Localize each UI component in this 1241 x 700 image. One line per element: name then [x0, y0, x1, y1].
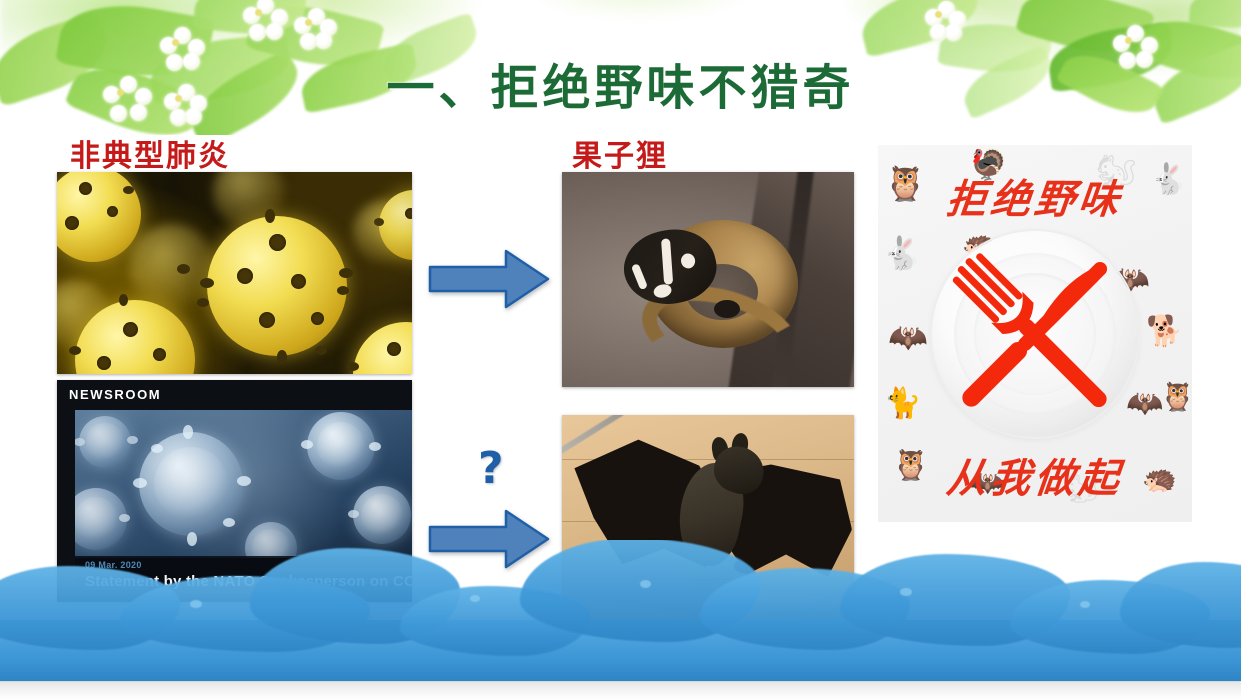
slide-canvas: 一、拒绝野味不猎奇 非典型肺炎 果子狸	[0, 0, 1241, 700]
floor-plank-line	[562, 579, 854, 580]
arrow-right-bottom-icon	[428, 508, 550, 570]
virus-spike-icon	[315, 346, 327, 355]
covid-particle-icon	[245, 522, 297, 558]
poster-bottom-text: 从我做起	[878, 446, 1192, 504]
caption-civet: 果子狸	[572, 131, 668, 175]
wave-spatter	[470, 595, 480, 602]
caption-covid: 新冠状肺炎	[70, 631, 230, 675]
civet-paw	[714, 300, 740, 318]
bottom-strip	[0, 681, 1241, 700]
metal-rail	[776, 578, 854, 620]
wave-blob	[840, 554, 1070, 646]
wave-blob	[1010, 580, 1210, 654]
newsroom-headline: Statement by the NATO Spokesperson on CO…	[85, 573, 412, 590]
leaf-icon	[1189, 0, 1241, 31]
silhouette-rabbit-icon: 🐇	[882, 237, 922, 269]
virus-spike-icon	[337, 286, 349, 295]
poster-top-text: 拒绝野味	[878, 167, 1192, 225]
silhouette-cat-icon: 🐈	[884, 389, 921, 419]
caption-bat: 蝙蝠	[572, 631, 636, 675]
covid-particle-icon	[353, 486, 411, 544]
newsroom-headline-bar: 09 Mar. 2020 Statement by the NATO Spoke…	[75, 556, 412, 602]
covid-virus-illustration	[75, 410, 412, 558]
virus-particle-icon	[353, 322, 412, 374]
poster-refuse-wild-game: 🦉 🦃 🐿 🐇 🐇 🦔 🦇 🦇 🐕 🐈 🦇 🦉 🦉 🦇 🐿 🦔 拒绝野味	[878, 145, 1192, 522]
image-covid-newsroom: NEWSROOM	[57, 380, 412, 602]
covid-particle-icon	[139, 432, 243, 536]
newsroom-date: 09 Mar. 2020	[85, 560, 142, 570]
covid-particle-icon	[79, 416, 131, 468]
page-title: 一、拒绝野味不猎奇	[0, 48, 1241, 118]
crossed-knife-fork-icon	[920, 219, 1150, 449]
image-civet	[562, 172, 854, 387]
covid-particle-icon	[75, 488, 127, 550]
image-sars-virus	[57, 172, 412, 374]
leaf-icon	[193, 0, 308, 40]
virus-spike-icon	[177, 264, 190, 274]
wave-spatter	[900, 588, 912, 596]
question-mark-label: ?	[478, 443, 504, 494]
wave-spatter	[1080, 601, 1090, 608]
arrow-right-top-icon	[428, 248, 550, 310]
caption-sars: 非典型肺炎	[70, 131, 230, 175]
silhouette-dog-icon: 🐕	[1146, 317, 1183, 347]
wave-blob	[1120, 562, 1241, 648]
virus-spike-icon	[197, 298, 209, 307]
silhouette-owl-icon: 🦉	[1160, 383, 1192, 411]
virus-particle-icon	[57, 172, 141, 262]
newsroom-label: NEWSROOM	[69, 387, 161, 402]
virus-particle-icon	[207, 216, 347, 356]
covid-particle-icon	[307, 412, 375, 480]
image-bat	[562, 415, 854, 620]
